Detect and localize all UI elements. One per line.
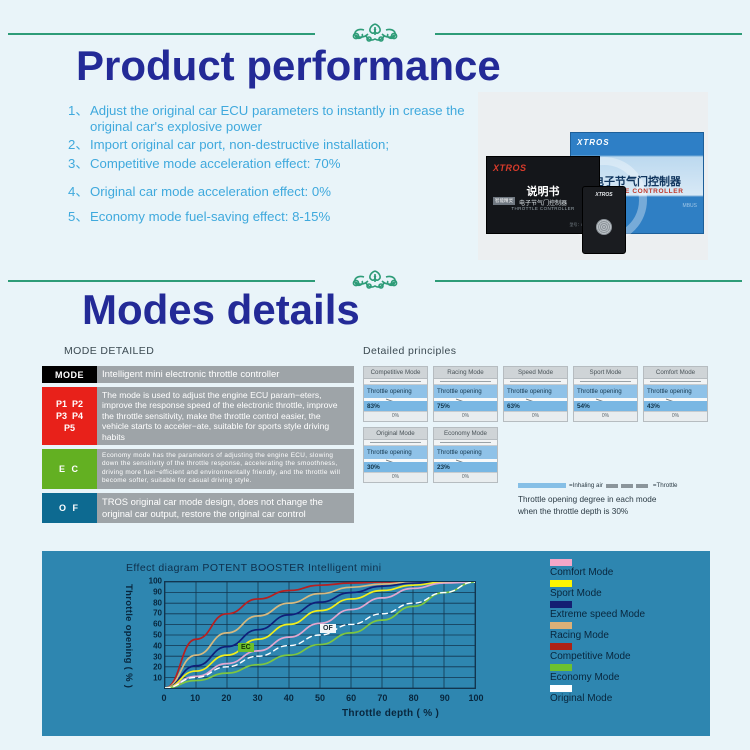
- device-brand-logo: XTROS: [583, 192, 625, 198]
- chart-legend-swatch-icon: [550, 559, 572, 566]
- chart-y-ticks: 102030405060708090100: [134, 576, 162, 694]
- chart-legend-label: Sport Mode: [550, 588, 740, 600]
- chart-legend: Comfort ModeSport ModeExtreme speed Mode…: [550, 559, 740, 706]
- list-item-text: Adjust the original car ECU parameters t…: [90, 103, 468, 134]
- mode-card-plot: Throttle opening 30% 0%: [364, 446, 427, 482]
- mode-card-plot: Throttle opening 43% 0%: [644, 385, 707, 421]
- inhaling-air-swatch-icon: [518, 483, 566, 488]
- mode-card-title: Economy Mode: [434, 428, 497, 440]
- product-marketing-page: Product performance 1、 Adjust the origin…: [0, 0, 750, 750]
- device-knob-icon: [596, 219, 612, 235]
- mode-card-sport: Sport Mode Throttle opening 54% 0%: [573, 366, 638, 422]
- chart-x-tick-label: 50: [315, 693, 325, 703]
- list-item-text: Competitive mode acceleration effect: 70…: [90, 156, 468, 172]
- box-model-code: MBUS: [683, 203, 697, 209]
- product-photo: XTROS 电子节气门控制器 THROTTLE CONTROLLER MBUS …: [478, 92, 708, 260]
- table-row-key: P1 P2 P3 P4 P5: [42, 387, 97, 445]
- list-item-number: 3、: [68, 156, 90, 172]
- chart-x-tick-label: 90: [440, 693, 450, 703]
- label-detailed-principles: Detailed principles: [363, 345, 456, 357]
- mode-card-zero-label: 0%: [434, 411, 497, 421]
- mode-card-title: Speed Mode: [504, 367, 567, 379]
- table-row-key: O F: [42, 493, 97, 523]
- chart-x-tick-label: 20: [221, 693, 231, 703]
- list-item: 1、 Adjust the original car ECU parameter…: [68, 103, 468, 134]
- chart-plot-area: [164, 581, 476, 689]
- manual-brand-logo: XTROS: [493, 163, 527, 173]
- chart-y-tick-label: 30: [153, 652, 162, 661]
- chart-y-tick-label: 90: [153, 587, 162, 596]
- mode-card-percent: 43%: [647, 403, 660, 410]
- chart-x-ticks: 0102030405060708090100: [150, 693, 490, 707]
- chart-title: Effect diagram POTENT BOOSTER Intelligen…: [126, 562, 382, 574]
- chart-legend-swatch-icon: [550, 580, 572, 587]
- chart-legend-item: Economy Mode: [550, 664, 740, 684]
- mode-card-speed: Speed Mode Throttle opening 63% 0%: [503, 366, 568, 422]
- mode-card-percent: 63%: [507, 403, 520, 410]
- chart-y-tick-label: 50: [153, 631, 162, 640]
- mode-card-title: Sport Mode: [574, 367, 637, 379]
- effect-diagram-chart: Effect diagram POTENT BOOSTER Intelligen…: [42, 551, 710, 736]
- chart-y-tick-label: 100: [149, 577, 162, 586]
- mode-card-percent: 30%: [367, 464, 380, 471]
- chart-legend-item: Comfort Mode: [550, 559, 740, 579]
- chart-legend-label: Economy Mode: [550, 672, 740, 684]
- table-row-body: Economy mode has the parameters of adjus…: [97, 449, 354, 489]
- mode-card-economy: Economy Mode Throttle opening 23% 0%: [433, 427, 498, 483]
- chart-y-axis-label: Throttle opening ( % ): [120, 581, 134, 691]
- table-row: O F TROS original car mode design, does …: [42, 493, 354, 523]
- chart-legend-label: Competitive Mode: [550, 651, 740, 663]
- table-row: P1 P2 P3 P4 P5 The mode is used to adjus…: [42, 387, 354, 445]
- chart-y-tick-label: 20: [153, 663, 162, 672]
- chart-legend-item: Extreme speed Mode: [550, 601, 740, 621]
- chart-x-tick-label: 40: [284, 693, 294, 703]
- chart-x-tick-label: 60: [346, 693, 356, 703]
- list-item: 5、 Economy mode fuel-saving effect: 8-15…: [68, 209, 468, 225]
- mode-card-zero-label: 0%: [364, 411, 427, 421]
- chart-x-tick-label: 30: [253, 693, 263, 703]
- table-row: MODE Intelligent mini electronic throttl…: [42, 366, 354, 383]
- list-item-text: Original car mode acceleration effect: 0…: [90, 184, 468, 200]
- principle-legend-row: =Inhaling air =Throttle: [518, 482, 718, 489]
- chart-legend-label: Racing Mode: [550, 630, 740, 642]
- chart-y-tick-label: 40: [153, 641, 162, 650]
- chart-legend-item: Original Mode: [550, 685, 740, 705]
- chart-inline-label-ec: EC: [238, 643, 254, 652]
- mode-card-percent: 83%: [367, 403, 380, 410]
- chart-x-tick-label: 10: [190, 693, 200, 703]
- chart-y-tick-label: 70: [153, 609, 162, 618]
- mode-card-comfort: Comfort Mode Throttle opening 43% 0%: [643, 366, 708, 422]
- chart-legend-swatch-icon: [550, 685, 572, 692]
- chart-legend-swatch-icon: [550, 643, 572, 650]
- chart-legend-swatch-icon: [550, 664, 572, 671]
- chart-legend-swatch-icon: [550, 601, 572, 608]
- chart-curves: [165, 582, 475, 688]
- mode-card-percent: 23%: [437, 464, 450, 471]
- mode-card-title: Comfort Mode: [644, 367, 707, 379]
- chart-x-axis-label: Throttle depth ( % ): [342, 708, 439, 719]
- mode-card-percent: 54%: [577, 403, 590, 410]
- mode-card-competitive: Competitive Mode Throttle opening 83% 0%: [363, 366, 428, 422]
- table-row-body: TROS original car mode design, does not …: [97, 493, 354, 523]
- mode-card-plot: Throttle opening 75% 0%: [434, 385, 497, 421]
- list-item-number: 1、: [68, 103, 90, 134]
- chart-y-tick-label: 10: [153, 674, 162, 683]
- list-item: 4、 Original car mode acceleration effect…: [68, 184, 468, 200]
- throttle-label: =Throttle: [653, 482, 678, 489]
- mode-card-percent: 75%: [437, 403, 450, 410]
- principle-caption-line1: Throttle opening degree in each mode: [518, 494, 718, 506]
- list-item-text: Economy mode fuel-saving effect: 8-15%: [90, 209, 468, 225]
- chart-legend-label: Original Mode: [550, 693, 740, 705]
- list-item-number: 4、: [68, 184, 90, 200]
- product-performance-list: 1、 Adjust the original car ECU parameter…: [68, 103, 468, 227]
- throttle-swatch-icon: [606, 484, 650, 488]
- table-row-body: The mode is used to adjust the engine EC…: [97, 387, 354, 445]
- chart-x-tick-label: 80: [409, 693, 419, 703]
- box-brand-logo: XTROS: [577, 138, 610, 147]
- principle-legend: =Inhaling air =Throttle Throttle opening…: [518, 482, 718, 518]
- mode-card-zero-label: 0%: [504, 411, 567, 421]
- chart-inline-label-of: OF: [320, 624, 336, 633]
- chart-legend-item: Racing Mode: [550, 622, 740, 642]
- mode-card-zero-label: 0%: [364, 472, 427, 482]
- product-device-unit: XTROS: [582, 186, 626, 254]
- chart-y-tick-label: 80: [153, 598, 162, 607]
- chart-x-tick-label: 70: [377, 693, 387, 703]
- table-row-body: Intelligent mini electronic throttle con…: [97, 366, 354, 383]
- mode-card-original: Original Mode Throttle opening 30% 0%: [363, 427, 428, 483]
- list-item-number: 5、: [68, 209, 90, 225]
- mode-card-title: Racing Mode: [434, 367, 497, 379]
- mode-card-plot: Throttle opening 63% 0%: [504, 385, 567, 421]
- inhaling-air-label: =Inhaling air: [569, 482, 603, 489]
- mode-card-title: Original Mode: [364, 428, 427, 440]
- mode-card-plot: Throttle opening 54% 0%: [574, 385, 637, 421]
- list-item-number: 2、: [68, 137, 90, 153]
- principle-cards: Competitive Mode Throttle opening 83% 0%…: [363, 366, 711, 488]
- table-row-key: E C: [42, 449, 97, 489]
- mode-card-racing: Racing Mode Throttle opening 75% 0%: [433, 366, 498, 422]
- page-title-product-performance: Product performance: [76, 42, 501, 90]
- chart-legend-item: Competitive Mode: [550, 643, 740, 663]
- mode-card-title: Competitive Mode: [364, 367, 427, 379]
- chart-y-tick-label: 60: [153, 620, 162, 629]
- list-item: 3、 Competitive mode acceleration effect:…: [68, 156, 468, 172]
- page-title-modes-details: Modes details: [82, 286, 360, 334]
- mode-card-zero-label: 0%: [434, 472, 497, 482]
- mode-detailed-table: MODE Intelligent mini electronic throttl…: [42, 366, 354, 527]
- mode-card-plot: Throttle opening 23% 0%: [434, 446, 497, 482]
- chart-x-tick-label: 100: [468, 693, 483, 703]
- mode-card-zero-label: 0%: [644, 411, 707, 421]
- chart-x-tick-label: 0: [161, 693, 166, 703]
- mode-card-plot: Throttle opening 83% 0%: [364, 385, 427, 421]
- principle-caption-line2: when the throttle depth is 30%: [518, 506, 718, 518]
- principle-cards-row-1: Competitive Mode Throttle opening 83% 0%…: [363, 366, 711, 422]
- chart-legend-item: Sport Mode: [550, 580, 740, 600]
- principle-cards-row-2: Original Mode Throttle opening 30% 0% Ec…: [363, 427, 711, 483]
- chart-legend-label: Extreme speed Mode: [550, 609, 740, 621]
- list-item: 2、 Import original car port, non-destruc…: [68, 137, 468, 153]
- list-item-text: Import original car port, non-destructiv…: [90, 137, 468, 153]
- chart-legend-swatch-icon: [550, 622, 572, 629]
- table-row-key: MODE: [42, 366, 97, 383]
- label-mode-detailed: MODE DETAILED: [64, 345, 154, 357]
- mode-card-zero-label: 0%: [574, 411, 637, 421]
- chart-legend-label: Comfort Mode: [550, 567, 740, 579]
- table-row: E C Economy mode has the parameters of a…: [42, 449, 354, 489]
